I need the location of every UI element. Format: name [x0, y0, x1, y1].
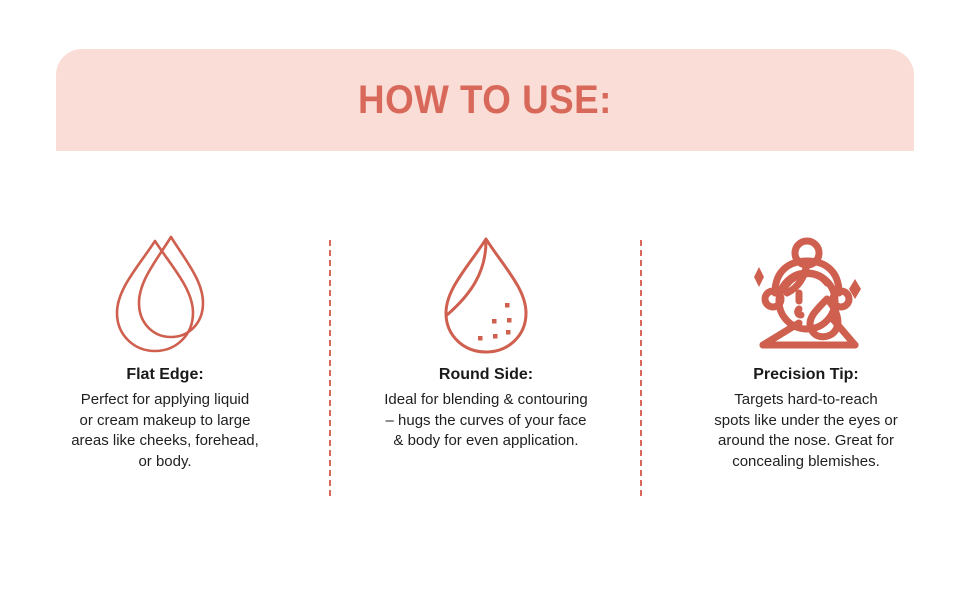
- teardrop-blending-icon: [434, 225, 538, 365]
- column-heading: Precision Tip:: [753, 365, 859, 385]
- body-line: or cream makeup to large: [71, 411, 259, 432]
- body-line: Targets hard-to-reach: [714, 390, 897, 411]
- double-teardrop-sponge-icon: [109, 225, 221, 365]
- column-body: Ideal for blending & contouring – hugs t…: [384, 390, 587, 452]
- body-line: & body for even application.: [384, 431, 587, 452]
- feature-column-round-side: Round Side: Ideal for blending & contour…: [330, 225, 642, 452]
- body-line: Perfect for applying liquid: [71, 390, 259, 411]
- body-line: Ideal for blending & contouring: [384, 390, 587, 411]
- body-line: or body.: [71, 452, 259, 473]
- page-title: HOW TO USE:: [358, 78, 612, 123]
- feature-column-flat-edge: Flat Edge: Perfect for applying liquid o…: [0, 225, 330, 473]
- feature-columns: Flat Edge: Perfect for applying liquid o…: [0, 225, 970, 510]
- column-heading: Flat Edge:: [126, 365, 203, 385]
- how-to-use-infographic: HOW TO USE: Flat Edge: Perfect for apply…: [0, 0, 970, 600]
- body-line: concealing blemishes.: [714, 452, 897, 473]
- body-line: around the nose. Great for: [714, 431, 897, 452]
- feature-column-precision-tip: Precision Tip: Targets hard-to-reach spo…: [642, 225, 970, 473]
- column-body: Perfect for applying liquid or cream mak…: [71, 390, 259, 473]
- dashed-divider-left: [329, 240, 331, 496]
- column-body: Targets hard-to-reach spots like under t…: [714, 390, 897, 473]
- header-banner: HOW TO USE:: [56, 49, 914, 151]
- column-heading: Round Side:: [439, 365, 533, 385]
- body-line: spots like under the eyes or: [714, 411, 897, 432]
- face-precision-application-icon: [745, 225, 867, 365]
- body-line: – hugs the curves of your face: [384, 411, 587, 432]
- dashed-divider-right: [640, 240, 642, 496]
- body-line: areas like cheeks, forehead,: [71, 431, 259, 452]
